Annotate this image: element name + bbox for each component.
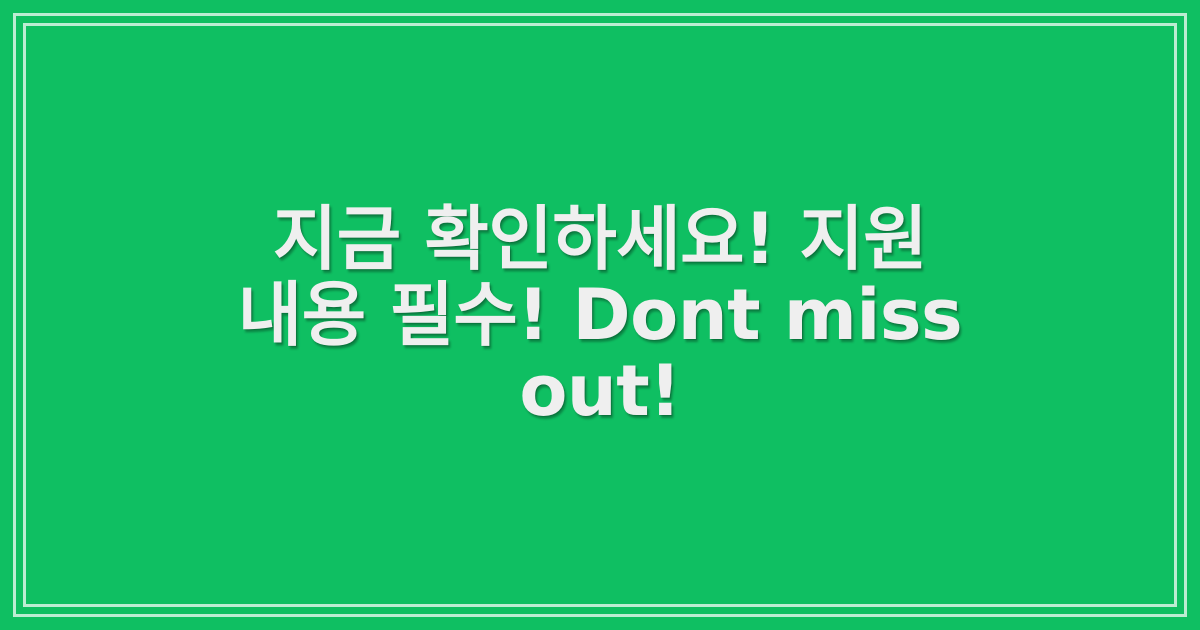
banner-headline: 지금 확인하세요! 지원 내용 필수! Dont miss out!	[220, 201, 980, 429]
headline-container: 지금 확인하세요! 지원 내용 필수! Dont miss out!	[220, 201, 980, 429]
promo-banner: 지금 확인하세요! 지원 내용 필수! Dont miss out!	[0, 0, 1200, 630]
